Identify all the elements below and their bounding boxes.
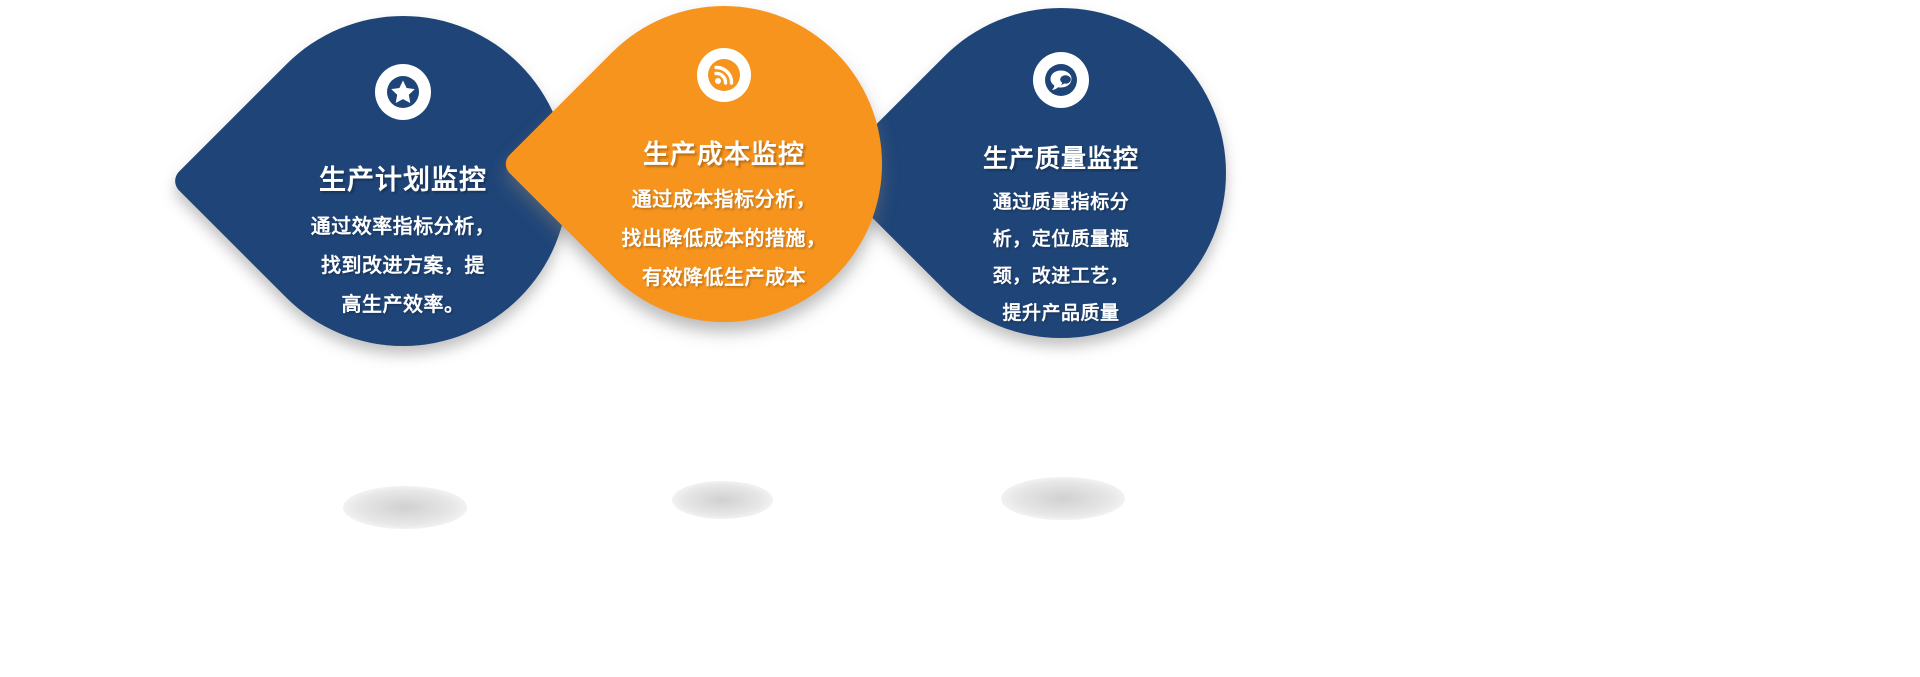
- pin-body-line: 找出降低成本的措施，: [602, 220, 846, 259]
- pin-body-line: 找到改进方案，提: [285, 247, 521, 286]
- ground-shadow-2: [672, 481, 773, 519]
- pin-text-block: 生产成本监控 通过成本指标分析， 找出降低成本的措施， 有效降低生产成本: [602, 140, 846, 298]
- pin-body: 通过质量指标分 析，定位质量瓶 颈，改进工艺， 提升产品质量: [957, 184, 1165, 332]
- star-icon: [375, 64, 431, 120]
- pin-body-line: 通过效率指标分析，: [285, 208, 521, 247]
- pin-production-quality-monitoring[interactable]: 生产质量监控 通过质量指标分 析，定位质量瓶 颈，改进工艺， 提升产品质量: [896, 8, 1226, 338]
- pin-text-block: 生产计划监控 通过效率指标分析， 找到改进方案，提 高生产效率。: [285, 166, 521, 325]
- pin-production-cost-monitoring[interactable]: 生产成本监控 通过成本指标分析， 找出降低成本的措施， 有效降低生产成本: [566, 6, 882, 322]
- ground-shadow-3: [1001, 477, 1125, 520]
- speech-bubble-icon: [1033, 52, 1089, 108]
- pin-body-line: 提升产品质量: [957, 295, 1165, 332]
- pin-body-line: 高生产效率。: [285, 286, 521, 325]
- pin-body: 通过成本指标分析， 找出降低成本的措施， 有效降低生产成本: [602, 181, 846, 298]
- pin-title: 生产成本监控: [602, 140, 846, 169]
- pin-body-line: 通过成本指标分析，: [602, 181, 846, 220]
- ground-shadow-1: [343, 486, 467, 529]
- pin-body-line: 析，定位质量瓶: [957, 221, 1165, 258]
- pin-title: 生产计划监控: [285, 166, 521, 196]
- pin-body: 通过效率指标分析， 找到改进方案，提 高生产效率。: [285, 208, 521, 325]
- rss-signal-icon: [697, 48, 751, 102]
- pin-body-line: 颈，改进工艺，: [957, 258, 1165, 295]
- pin-body-line: 通过质量指标分: [957, 184, 1165, 221]
- pin-body-line: 有效降低生产成本: [602, 259, 846, 298]
- pin-title: 生产质量监控: [957, 146, 1165, 174]
- infographic-canvas: 生产计划监控 通过效率指标分析， 找到改进方案，提 高生产效率。 生产成本监控 …: [0, 0, 1920, 677]
- pin-text-block: 生产质量监控 通过质量指标分 析，定位质量瓶 颈，改进工艺， 提升产品质量: [957, 146, 1165, 332]
